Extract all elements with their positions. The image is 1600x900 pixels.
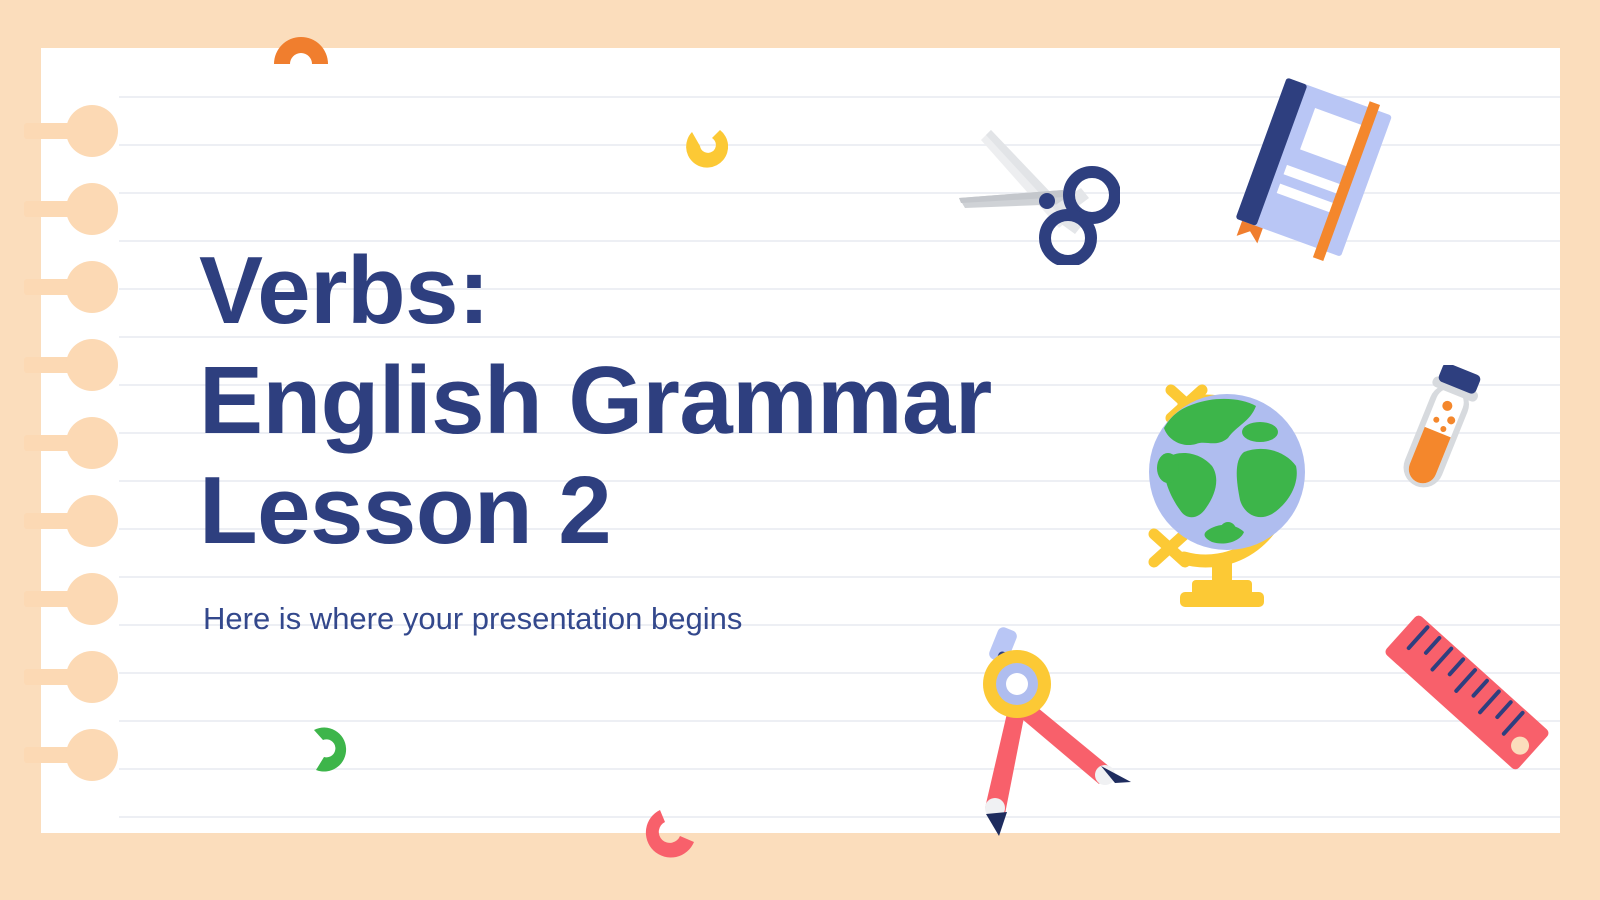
binding-hole-ring (66, 729, 118, 781)
title-text-block: Verbs: English Grammar Lesson 2 Here is … (199, 236, 1019, 638)
binding-hole-ring (66, 651, 118, 703)
test-tube-illustration (1385, 365, 1495, 500)
globe-illustration (1124, 362, 1339, 622)
binding-hole-ring (66, 183, 118, 235)
page-title: Verbs: English Grammar Lesson 2 (199, 236, 1019, 566)
binding-hole-ring (66, 339, 118, 391)
arc-green-icon (306, 726, 350, 774)
spiral-binding (0, 0, 160, 900)
title-slide: Verbs: English Grammar Lesson 2 Here is … (0, 0, 1600, 900)
compass-illustration (955, 622, 1140, 837)
binding-hole-ring (66, 573, 118, 625)
subtitle-text: Here is where your presentation begins (203, 600, 1019, 638)
arc-coral-bottom-icon (642, 808, 698, 860)
binding-hole-ring (66, 495, 118, 547)
rule-line (119, 672, 1560, 674)
rule-line (119, 720, 1560, 722)
binding-hole-ring (66, 261, 118, 313)
binding-hole-ring (66, 105, 118, 157)
rule-line (119, 816, 1560, 818)
ruler-illustration (1355, 605, 1570, 780)
arc-orange-top-icon (272, 22, 330, 66)
binding-hole-ring (66, 417, 118, 469)
arc-yellow-icon (676, 128, 724, 170)
notebook-illustration (1215, 78, 1410, 273)
